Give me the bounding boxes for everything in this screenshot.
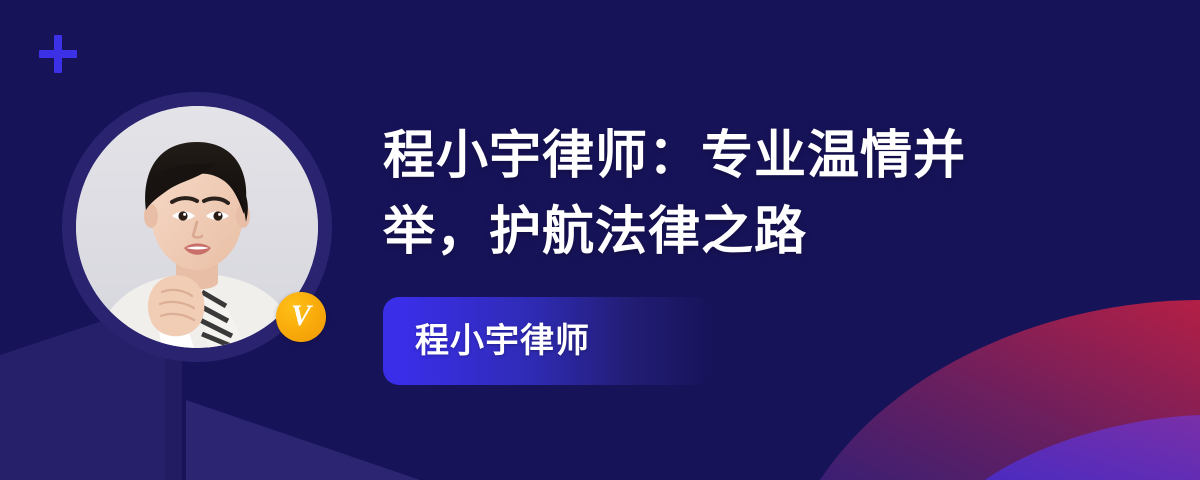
avatar[interactable]: V [62,92,332,362]
verified-badge-icon: V [276,292,326,342]
lawyer-profile-banner: V 程小宇律师：专业温情并举，护航法律之路 程小宇律师 [0,0,1200,480]
page-title: 程小宇律师：专业温情并举，护航法律之路 [383,118,1023,270]
lawyer-name-button-label: 程小宇律师 [415,324,590,358]
banner-content: 程小宇律师：专业温情并举，护航法律之路 程小宇律师 [383,118,1083,270]
plus-icon [39,35,77,73]
lawyer-name-button[interactable]: 程小宇律师 [383,297,713,385]
plus-icon-vertical-bar [54,35,62,73]
verified-badge-letter: V [291,301,311,331]
